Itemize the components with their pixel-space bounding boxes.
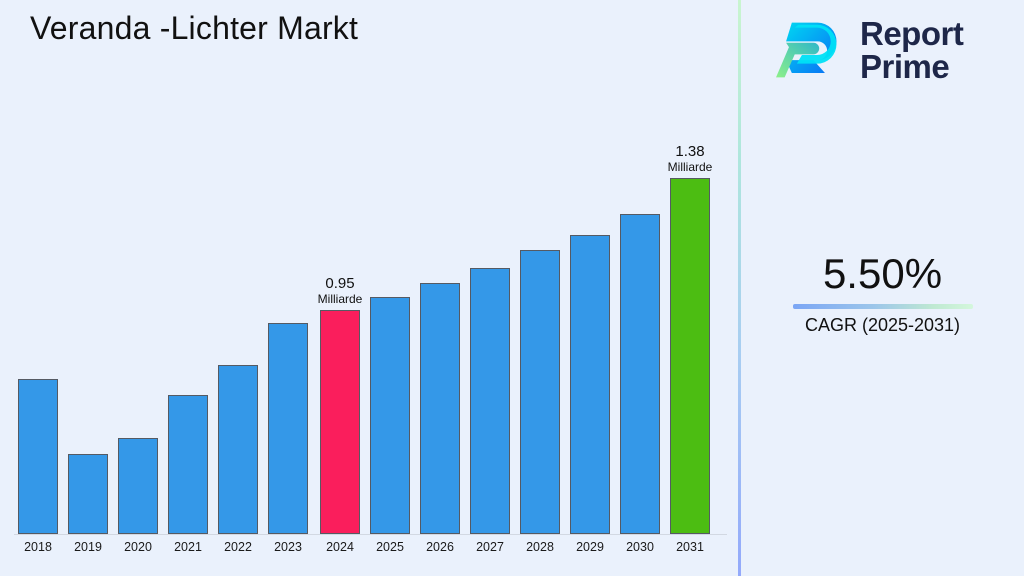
bar-label-2031: 1.38 Milliarde (648, 144, 732, 174)
brand-line-1: Report (860, 17, 963, 50)
bar-label-2031-value: 1.38 (648, 144, 732, 161)
cagr-caption: CAGR (2025-2031) (741, 315, 1024, 336)
bar-2020[interactable] (118, 438, 158, 534)
chart-panel: Veranda -Lichter Markt (0, 0, 738, 576)
brand-line-2: Prime (860, 50, 963, 83)
bar-2029[interactable] (570, 235, 610, 534)
cagr-divider-rule (793, 304, 973, 309)
cagr-block: 5.50% CAGR (2025-2031) (741, 252, 1024, 336)
bar-2024[interactable] (320, 310, 360, 534)
bar-2021[interactable] (168, 395, 208, 534)
bar-2018[interactable] (18, 379, 58, 534)
x-tick-2031: 2031 (660, 540, 720, 554)
bar-2023[interactable] (268, 323, 308, 534)
bar-2027[interactable] (470, 268, 510, 534)
x-tick-2023: 2023 (258, 540, 318, 554)
bar-chart-plot-area: 0.95 Milliarde (0, 0, 738, 576)
cagr-value: 5.50% (741, 252, 1024, 296)
brand-wordmark: Report Prime (860, 17, 963, 83)
bar-2030[interactable] (620, 214, 660, 534)
info-panel: Report Prime 5.50% CAGR (2025-2031) (741, 0, 1024, 576)
bar-2022[interactable] (218, 365, 258, 534)
bar-label-2024-value: 0.95 (298, 276, 382, 293)
bar-2031[interactable] (670, 178, 710, 534)
bar-2026[interactable] (420, 283, 460, 534)
screenshot-root: Veranda -Lichter Markt (0, 0, 1024, 576)
bar-2019[interactable] (68, 454, 108, 534)
bar-label-2031-unit: Milliarde (648, 161, 732, 174)
bar-2025[interactable] (370, 297, 410, 534)
bar-2028[interactable] (520, 250, 560, 534)
x-axis-line (14, 534, 727, 535)
report-prime-logo-mark-icon (776, 14, 848, 86)
brand-logo: Report Prime (776, 14, 963, 86)
